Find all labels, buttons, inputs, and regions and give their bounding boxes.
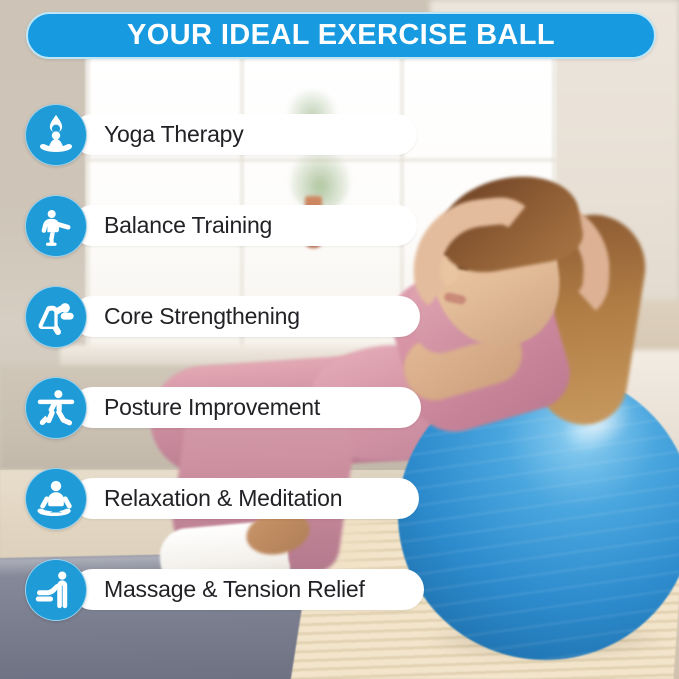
feature-label: Relaxation & Meditation [104,485,342,512]
feature-label: Balance Training [104,212,272,239]
feature-pill: Posture Improvement [72,387,421,428]
feature-item-balance-training[interactable]: Balance Training [0,187,679,278]
feature-label: Core Strengthening [104,303,300,330]
feature-pill: Yoga Therapy [72,114,417,155]
feature-pill: Core Strengthening [72,296,420,337]
promo-graphic: YOUR IDEAL EXERCISE BALL Yoga Therapy B [0,0,679,679]
core-crunch-icon [25,286,87,348]
feature-item-relaxation-meditation[interactable]: Relaxation & Meditation [0,460,679,551]
meditation-lotus-icon [25,468,87,530]
yoga-standing-balance-icon [25,195,87,257]
header-banner: YOUR IDEAL EXERCISE BALL [26,12,656,59]
feature-item-core-strengthening[interactable]: Core Strengthening [0,278,679,369]
feature-label: Yoga Therapy [104,121,244,148]
massage-table-icon [25,559,87,621]
feature-list: Yoga Therapy Balance Training [0,96,679,642]
feature-pill: Balance Training [72,205,417,246]
feature-item-posture-improvement[interactable]: Posture Improvement [0,369,679,460]
feature-label: Massage & Tension Relief [104,576,365,603]
feature-item-yoga-therapy[interactable]: Yoga Therapy [0,96,679,187]
warrior-pose-icon [25,377,87,439]
yoga-lotus-arms-up-icon [25,104,87,166]
feature-pill: Relaxation & Meditation [72,478,419,519]
feature-item-massage-tension-relief[interactable]: Massage & Tension Relief [0,551,679,642]
feature-label: Posture Improvement [104,394,320,421]
page-title: YOUR IDEAL EXERCISE BALL [127,19,555,52]
feature-pill: Massage & Tension Relief [72,569,424,610]
